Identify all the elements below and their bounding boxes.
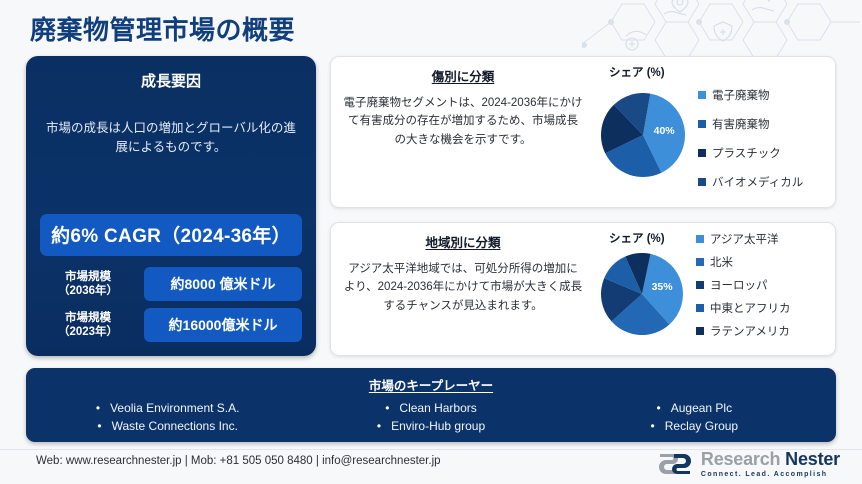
region-card-text-area: 地域別に分類 アジア太平洋地域では、可処分所得の増加により、2024-2036年… [331,223,593,355]
logo-text: Research Nester Connect. Lead. Accomplis… [701,450,840,478]
key-players-title: 市場のキープレーヤー [36,375,826,394]
legend-item[interactable]: 電子廃棄物 [698,87,803,103]
market-size-row-2036: 市場規模 （2036年） 約8000 億米ドル [40,267,302,301]
segment-analysis-card: 傷別に分類 電子廃棄物セグメントは、2024-2036年にかけて有害成分の存在が… [330,56,836,208]
legend-item[interactable]: ラテンアメリカ [696,323,791,339]
growth-factors-panel: 成長要因 市場の成長は人口の増加とグローバル化の進展によるものです。 約6% C… [26,56,316,356]
region-analysis-card: 地域別に分類 アジア太平洋地域では、可処分所得の増加により、2024-2036年… [330,222,836,356]
growth-factors-body: 市場の成長は人口の増加とグローバル化の進展によるものです。 [40,119,302,158]
key-player-item: •Veolia Environment S.A. [96,401,240,415]
legend-item[interactable]: 有害廃棄物 [698,116,803,132]
segment-share-title: シェア (%) [609,64,665,80]
key-player-name: Reclay Group [665,419,738,433]
logo-name: Research Nester [701,450,840,468]
legend-label: バイオメディカル [712,174,803,190]
key-player-name: Veolia Environment S.A. [110,401,239,415]
region-chart-area: シェア (%) 35% アジア太平洋北米ヨーロッパ中東とアフリカラテンアメリカ [593,223,835,355]
region-chart-legend: アジア太平洋北米ヨーロッパ中東とアフリカラテンアメリカ [696,231,791,339]
logo-tagline: Connect. Lead. Accomplish [701,471,840,478]
bullet-icon: • [377,419,381,433]
market-size-metrics: 市場規模 （2036年） 約8000 億米ドル 市場規模 （2023年） 約16… [40,267,302,342]
bullet-icon: • [657,401,661,415]
legend-label: 有害廃棄物 [712,116,770,132]
legend-swatch-icon [698,91,706,99]
legend-swatch-icon [696,281,704,289]
region-share-pie: 35% [601,253,683,340]
market-size-label-2036-line1: 市場規模 [40,270,136,284]
page-title: 廃棄物管理市場の概要 [30,10,295,47]
market-size-label-2023: 市場規模 （2023年） [40,311,136,340]
market-size-label-2036: 市場規模 （2036年） [40,270,136,299]
region-share-title: シェア (%) [609,230,665,246]
key-player-name: Clean Harbors [399,401,476,415]
legend-swatch-icon [698,149,706,157]
market-size-label-2023-line2: （2023年） [40,325,136,339]
key-player-item: •Augean Plc [657,401,733,415]
legend-label: 北米 [710,254,733,270]
segment-chart-legend: 電子廃棄物有害廃棄物プラスチックバイオメディカル [698,87,803,190]
market-size-label-2036-line2: （2036年） [40,284,136,298]
legend-swatch-icon [696,258,704,266]
region-card-text: アジア太平洋地域では、可処分所得の増加により、2024-2036年にかけて市場が… [343,260,583,315]
medical-glyphs-icon [626,0,776,50]
market-size-label-2023-line1: 市場規模 [40,311,136,325]
key-player-name: Augean Plc [671,401,732,415]
market-size-value-2036: 約8000 億米ドル [144,267,302,301]
legend-label: 中東とアフリカ [710,300,791,316]
legend-swatch-icon [698,178,706,186]
research-nester-logo: Research Nester Connect. Lead. Accomplis… [656,450,840,478]
legend-label: 電子廃棄物 [712,87,770,103]
segment-chart-area: シェア (%) 40% 電子廃棄物有害廃棄物プラスチックバイオメディカル [593,57,835,207]
key-player-name: Waste Connections Inc. [112,419,238,433]
market-size-row-2023: 市場規模 （2023年） 約16000億米ドル [40,308,302,342]
segment-share-pie: 40% [601,93,685,182]
legend-item[interactable]: 中東とアフリカ [696,300,791,316]
logo-word-nester: Nester [785,449,840,469]
legend-item[interactable]: 北米 [696,254,791,270]
growth-factors-title: 成長要因 [40,70,302,91]
legend-swatch-icon [696,235,704,243]
market-size-value-2023: 約16000億米ドル [144,308,302,342]
region-share-pie-svg [601,253,683,335]
legend-label: ラテンアメリカ [710,323,790,339]
legend-item[interactable]: ヨーロッパ [696,277,791,293]
key-players-column: •Veolia Environment S.A.•Waste Connectio… [36,401,299,433]
hexagon-decoration-icon [582,0,862,62]
region-card-heading: 地域別に分類 [343,232,583,251]
segment-card-text-area: 傷別に分類 電子廃棄物セグメントは、2024-2036年にかけて有害成分の存在が… [331,57,593,207]
key-player-item: •Clean Harbors [385,401,477,415]
footer-contact: Web: www.researchnester.jp | Mob: +81 50… [36,455,441,467]
key-players-column: •Clean Harbors•Enviro-Hub group [299,401,562,433]
infographic-slide: 廃棄物管理市場の概要 成長要因 市場の成長は人口の増加とグローバル化の進展による… [0,0,862,484]
legend-item[interactable]: アジア太平洋 [696,231,791,247]
logo-mark-icon [656,451,694,477]
legend-label: アジア太平洋 [710,231,779,247]
bullet-icon: • [96,401,100,415]
key-player-item: •Waste Connections Inc. [97,419,237,433]
legend-item[interactable]: プラスチック [698,145,803,161]
legend-swatch-icon [696,327,704,335]
legend-label: ヨーロッパ [710,277,768,293]
segment-card-text: 電子廃棄物セグメントは、2024-2036年にかけて有害成分の存在が増加するため… [343,94,583,149]
bullet-icon: • [97,419,101,433]
bullet-icon: • [651,419,655,433]
legend-label: プラスチック [712,145,781,161]
key-players-column: •Augean Plc•Reclay Group [563,401,826,433]
legend-swatch-icon [698,120,706,128]
bullet-icon: • [385,401,389,415]
cagr-badge: 約6% CAGR（2024-36年） [40,214,302,256]
segment-card-heading: 傷別に分類 [343,66,583,85]
logo-word-research: Research [701,449,780,469]
segment-share-pie-svg [601,93,685,177]
key-player-item: •Reclay Group [651,419,739,433]
key-player-name: Enviro-Hub group [391,419,485,433]
key-players-band: 市場のキープレーヤー •Veolia Environment S.A.•Wast… [26,368,836,442]
legend-swatch-icon [696,304,704,312]
key-players-columns: •Veolia Environment S.A.•Waste Connectio… [36,401,826,433]
key-player-item: •Enviro-Hub group [377,419,485,433]
legend-item[interactable]: バイオメディカル [698,174,803,190]
